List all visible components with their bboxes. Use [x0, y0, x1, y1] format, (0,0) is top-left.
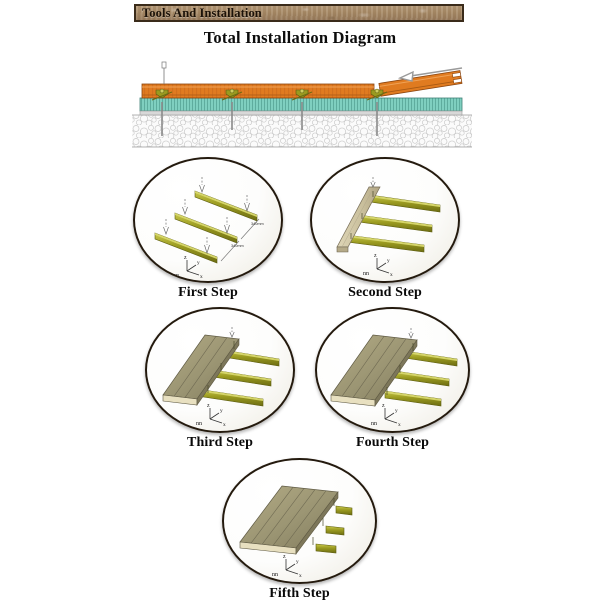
left-vertical-marker — [162, 62, 166, 84]
joist — [395, 371, 449, 386]
dimension-label: 340mm — [251, 222, 264, 226]
joist — [336, 506, 352, 515]
axis-label-y: y — [387, 258, 390, 264]
page-title: Total Installation Diagram — [0, 28, 600, 48]
joist — [316, 544, 336, 553]
step-panel-fifth-step: z y x nn Fifth Step — [222, 458, 377, 584]
axis-label-y: y — [395, 408, 398, 414]
third-step-illustration: z y x nn — [147, 309, 295, 433]
step-caption: Third Step — [145, 435, 295, 451]
oval-frame: z y x nn — [310, 157, 460, 283]
step-panel-second-step: z y x nn Second Step — [310, 157, 460, 283]
step-caption: First Step — [133, 285, 283, 301]
axis-label-x: x — [200, 274, 203, 280]
coordinate-axis: z y x nn — [173, 255, 203, 280]
joist — [385, 391, 441, 406]
second-step-illustration: z y x nn — [312, 159, 460, 283]
step-panel-first-step: 340mm 340mm z y x nn First Step — [133, 157, 283, 283]
axis-label-z: z — [382, 403, 385, 409]
joist — [405, 351, 457, 366]
oval-frame: z y x nn — [222, 458, 377, 584]
axis-label-z: z — [374, 253, 377, 259]
axis-label-y: y — [296, 559, 299, 565]
coordinate-axis: z y x nn — [196, 403, 226, 428]
oval-frame: z y x nn — [315, 307, 470, 433]
axis-origin-label: nn — [173, 273, 179, 279]
joist — [347, 235, 424, 252]
axis-origin-label: nn — [371, 421, 377, 427]
step-caption: Second Step — [310, 285, 460, 301]
total-installation-cross-section — [132, 60, 472, 155]
step-panel-third-step: z y x nn Third Step — [145, 307, 295, 433]
fourth-step-illustration: z y x nn — [317, 309, 470, 433]
fifth-step-illustration: z y x nn — [224, 460, 377, 584]
coordinate-axis: z y x nn — [272, 554, 302, 579]
step-caption: Fourth Step — [315, 435, 470, 451]
deck-board-run — [142, 84, 374, 98]
joist — [359, 215, 432, 232]
oval-frame: z y x nn — [145, 307, 295, 433]
joist-substrate-layer — [140, 98, 462, 115]
placement-arrow-group — [230, 327, 234, 337]
banner-label: Tools And Installation — [136, 6, 262, 21]
dimension-label: 340mm — [231, 244, 244, 248]
axis-label-z: z — [207, 403, 210, 409]
joist — [370, 195, 440, 212]
axis-label-z: z — [184, 255, 187, 261]
axis-label-y: y — [197, 260, 200, 266]
tools-and-installation-banner: Tools And Installation — [134, 4, 464, 22]
coordinate-axis: z y x nn — [371, 403, 401, 428]
axis-label-z: z — [283, 554, 286, 560]
axis-origin-label: nn — [196, 421, 202, 427]
axis-label-x: x — [390, 272, 393, 278]
placement-arrow-group — [409, 328, 413, 338]
placement-arrow-group — [371, 177, 375, 187]
step-panel-fourth-step: z y x nn Fourth Step — [315, 307, 470, 433]
axis-origin-label: nn — [272, 572, 278, 578]
axis-origin-label: nn — [363, 271, 369, 277]
joist — [326, 526, 344, 535]
axis-label-x: x — [299, 573, 302, 579]
oval-frame: 340mm 340mm z y x nn — [133, 157, 283, 283]
axis-label-x: x — [223, 422, 226, 428]
axis-label-x: x — [398, 422, 401, 428]
coordinate-axis: z y x nn — [363, 253, 393, 278]
axis-label-y: y — [220, 408, 223, 414]
cross-section-svg — [132, 60, 472, 155]
first-step-illustration: 340mm 340mm z y x nn — [135, 159, 283, 283]
